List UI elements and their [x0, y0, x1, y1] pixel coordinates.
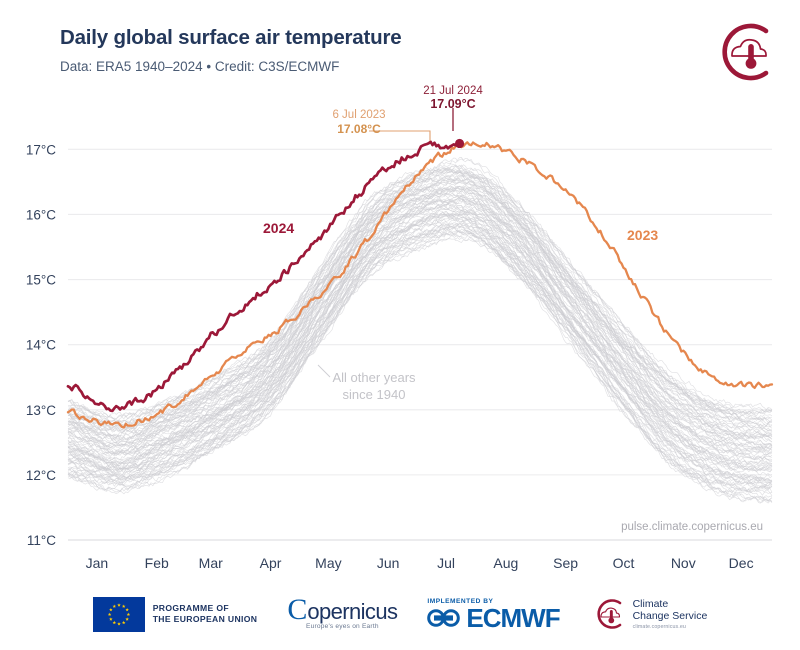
copernicus-tagline: Europe's eyes on Earth — [306, 623, 379, 630]
eu-logo-block: PROGRAMME OF THE EUROPEAN UNION — [93, 597, 258, 632]
temperature-chart: 11°C12°C13°C14°C15°C16°C17°C JanFebMarAp… — [0, 0, 800, 590]
eu-flag-icon — [93, 597, 145, 632]
y-axis-tick-label: 12°C — [26, 468, 56, 483]
eu-text-line1: PROGRAMME OF — [153, 603, 258, 614]
ecmwf-logo-block: IMPLEMENTED BY ECMWF — [427, 598, 559, 631]
chart-page: Daily global surface air temperature Dat… — [0, 0, 800, 650]
x-axis-tick-label: Sep — [553, 555, 578, 571]
x-axis-tick-label: Nov — [671, 555, 696, 571]
eu-text-line2: THE EUROPEAN UNION — [153, 614, 258, 625]
ecmwf-logo-icon — [427, 607, 461, 629]
c3s-logo-block: Climate Change Service climate.copernicu… — [590, 597, 708, 631]
x-axis-tick-label: Dec — [729, 555, 754, 571]
x-axis-tick-label: Oct — [613, 555, 635, 571]
series-label-2024: 2024 — [263, 220, 294, 236]
y-axis-tick-label: 17°C — [26, 142, 56, 157]
peak-2024-marker — [455, 139, 464, 148]
y-axis-ticks: 11°C12°C13°C14°C15°C16°C17°C — [26, 142, 56, 548]
historical-label-line1: All other years — [332, 370, 416, 385]
copernicus-c-icon: C — [287, 598, 307, 622]
y-axis-tick-label: 13°C — [26, 403, 56, 418]
historical-year-line — [68, 223, 772, 490]
historical-year-line — [68, 199, 772, 460]
annotation-2023-value: 17.08°C — [337, 122, 381, 136]
ecmwf-name: ECMWF — [466, 605, 559, 631]
y-axis-tick-label: 15°C — [26, 273, 56, 288]
historical-year-line — [68, 235, 772, 501]
x-axis-tick-label: May — [315, 555, 341, 571]
watermark-url: pulse.climate.copernicus.eu — [621, 521, 763, 533]
historical-year-line — [68, 193, 772, 452]
x-axis-tick-label: Jun — [377, 555, 400, 571]
x-axis-tick-label: Jan — [86, 555, 109, 571]
historical-leader-line — [318, 365, 330, 377]
historical-year-line — [68, 170, 772, 423]
footer-logos: PROGRAMME OF THE EUROPEAN UNION C operni… — [0, 586, 800, 642]
annotation-2023-date: 6 Jul 2023 — [332, 109, 385, 121]
c3s-text-line1: Climate — [633, 598, 708, 610]
copernicus-name: opernicus — [307, 602, 397, 622]
x-axis-ticks: JanFebMarAprMayJunJulAugSepOctNovDec — [86, 555, 754, 571]
historical-year-line — [68, 166, 772, 426]
x-axis-tick-label: Apr — [260, 555, 282, 571]
x-axis-tick-label: Feb — [145, 555, 169, 571]
historical-year-line — [68, 177, 772, 436]
copernicus-logo-block: C opernicus Europe's eyes on Earth — [287, 598, 397, 630]
y-axis-tick-label: 14°C — [26, 338, 56, 353]
y-axis-tick-label: 11°C — [27, 533, 56, 548]
c3s-text-line2: Change Service — [633, 610, 708, 622]
x-axis-tick-label: Jul — [437, 555, 455, 571]
annotation-2024-value: 17.09°C — [430, 97, 475, 111]
series-label-2023: 2023 — [627, 227, 658, 243]
historical-label-line2: since 1940 — [343, 387, 406, 402]
y-axis-tick-label: 16°C — [26, 207, 56, 222]
c3s-logo-icon — [590, 597, 626, 631]
x-axis-tick-label: Mar — [199, 555, 223, 571]
annotation-2024-date: 21 Jul 2024 — [423, 85, 483, 97]
x-axis-tick-label: Aug — [493, 555, 518, 571]
c3s-text-line3: climate.copernicus.eu — [633, 624, 708, 630]
grid-lines — [68, 149, 772, 540]
copernicus-wordmark: C opernicus — [287, 598, 397, 622]
historical-year-line — [68, 177, 772, 433]
eu-logo-text: PROGRAMME OF THE EUROPEAN UNION — [153, 603, 258, 626]
